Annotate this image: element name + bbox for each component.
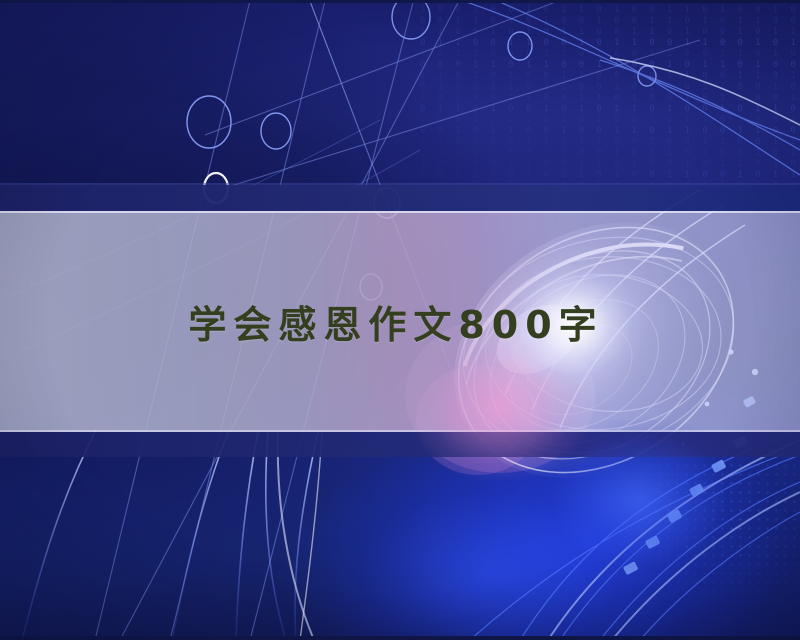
slide-canvas: 0 1 0 0 1 1 0 1 0 0 1 0 1 1 0 0 1 0 1 0 … <box>0 0 800 640</box>
band-bottom-stripe <box>0 432 800 457</box>
title-band <box>0 211 800 432</box>
top-edge-line <box>0 0 800 3</box>
band-top-stripe <box>0 185 800 211</box>
bottom-edge-line <box>0 636 800 640</box>
band-top-highlight <box>0 211 800 213</box>
